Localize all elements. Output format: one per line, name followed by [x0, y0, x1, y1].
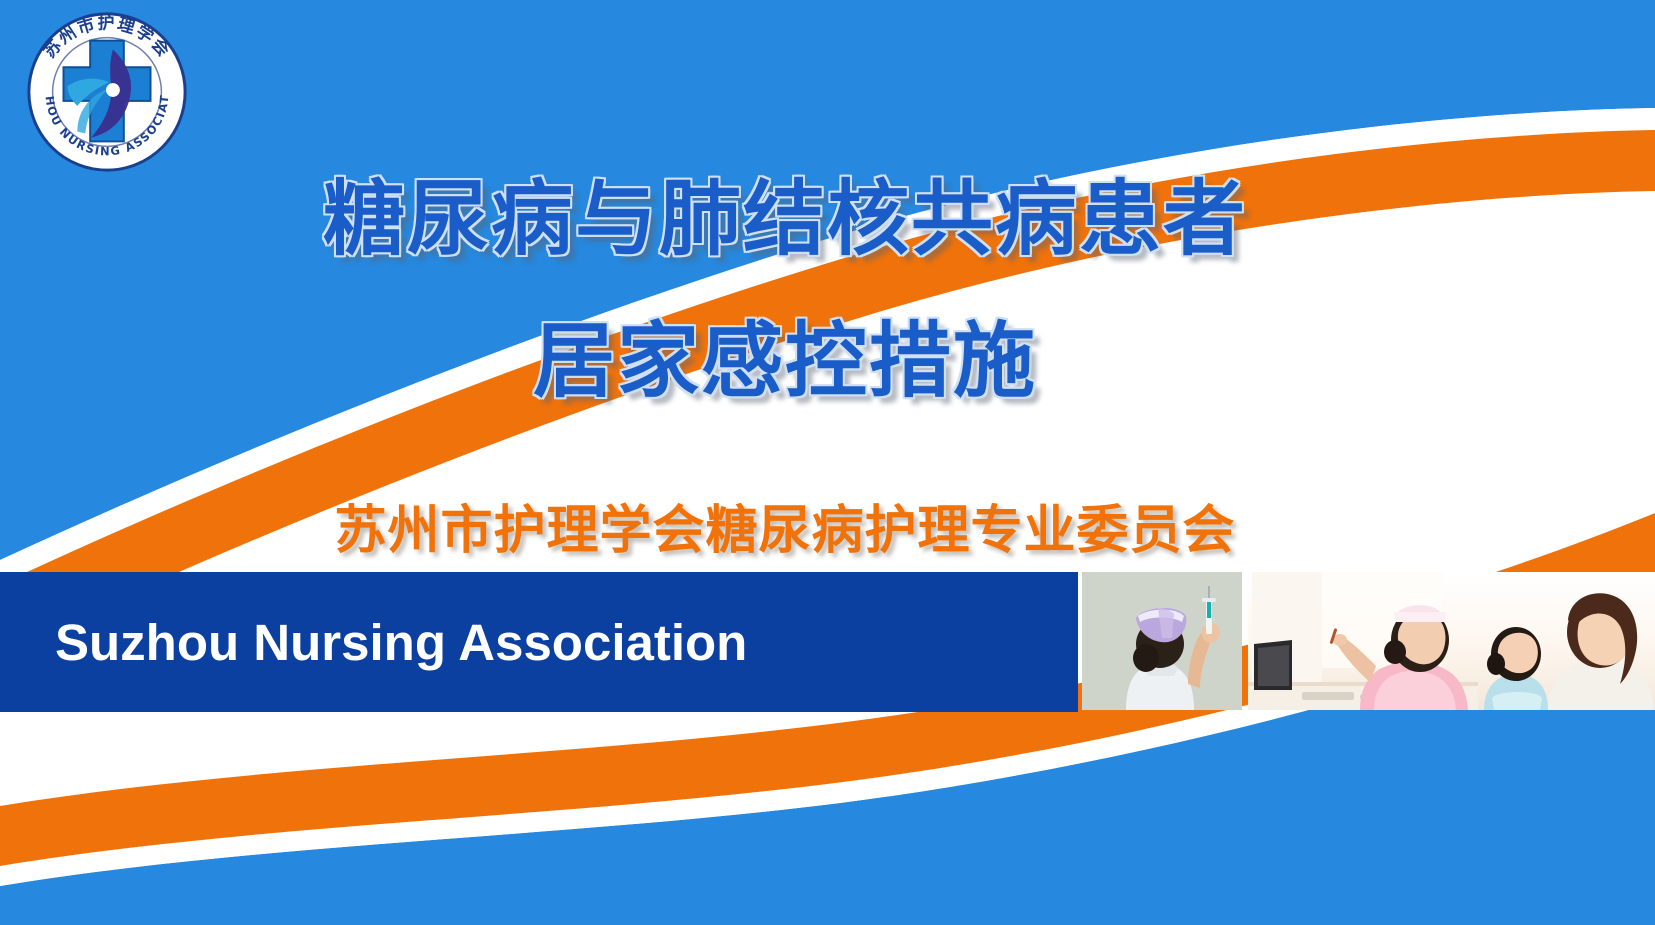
title-line-2: 居家感控措施 — [0, 320, 1570, 404]
photo-nurse-syringe-image — [1082, 572, 1242, 710]
title-line-1: 糖尿病与肺结核共病患者 — [0, 178, 1570, 262]
slide-subtitle: 苏州市护理学会糖尿病护理专业委员会 — [0, 488, 1570, 563]
photo-nurse-syringe — [1082, 572, 1242, 710]
title-slide: 苏州市护理学会 SUZHOU NURSING ASSOCIATION 糖尿病与肺… — [0, 0, 1655, 925]
association-logo-icon: 苏州市护理学会 SUZHOU NURSING ASSOCIATION — [18, 3, 196, 181]
slide-background-decoration — [0, 0, 1655, 925]
slide-title: 糖尿病与肺结核共病患者 居家感控措施 — [0, 178, 1570, 403]
association-logo: 苏州市护理学会 SUZHOU NURSING ASSOCIATION — [18, 3, 196, 181]
photo-nurse-consultation-image — [1248, 572, 1655, 710]
photo-nurse-consultation — [1248, 572, 1655, 710]
organization-banner: Suzhou Nursing Association — [0, 572, 1078, 712]
organization-banner-text: Suzhou Nursing Association — [55, 613, 747, 672]
